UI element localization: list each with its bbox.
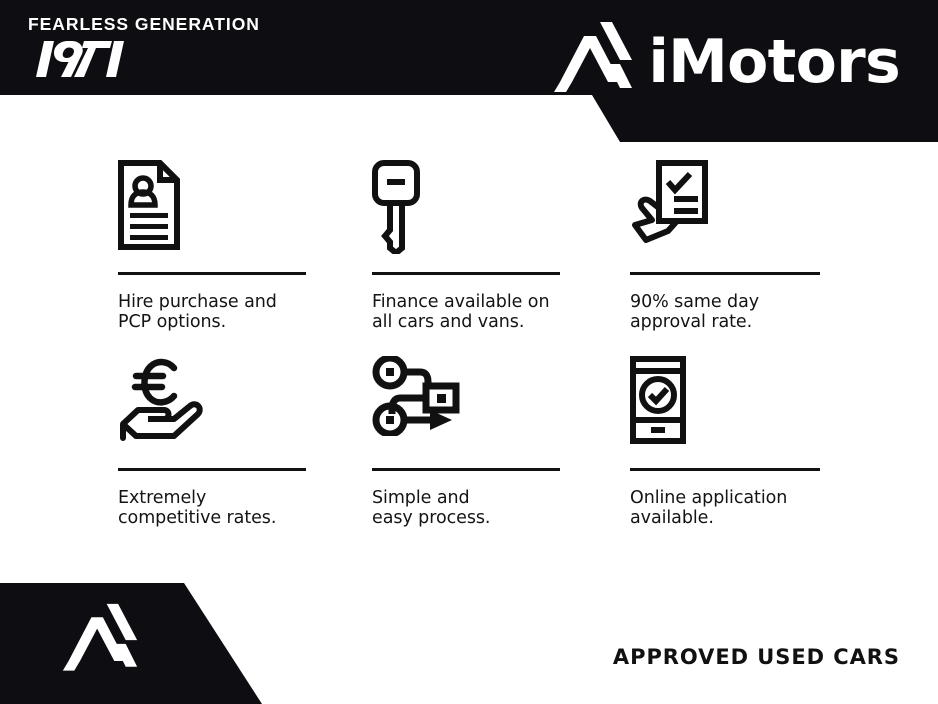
feature-caption: Extremely competitive rates.	[118, 489, 313, 529]
card-divider	[372, 468, 560, 471]
header-tagline: FEARLESS GENERATION	[28, 16, 260, 34]
feature-grid: Hire purchase and PCP options. Finance a…	[0, 160, 938, 552]
card-divider	[118, 468, 306, 471]
feature-row-1: Hire purchase and PCP options. Finance a…	[0, 160, 938, 356]
process-flow-icon	[372, 356, 567, 468]
feature-caption: Simple and easy process.	[372, 489, 567, 529]
header-brand-right: iMotors	[554, 20, 900, 104]
car-key-icon	[372, 160, 567, 272]
header-bar: FEARLESS GENERATION	[0, 0, 938, 142]
mobile-approved-icon	[630, 356, 835, 468]
footer-imotors-chevron-mark-icon	[62, 602, 138, 682]
card-divider	[372, 272, 560, 275]
feature-card-approval-rate: 90% same day approval rate.	[630, 160, 835, 333]
imotors-chevron-mark-icon	[554, 20, 632, 104]
feature-caption: 90% same day approval rate.	[630, 293, 835, 333]
feature-caption: Hire purchase and PCP options.	[118, 293, 313, 333]
card-divider	[118, 272, 306, 275]
feature-card-finance-available: Finance available on all cars and vans.	[372, 160, 567, 333]
feature-card-hire-purchase: Hire purchase and PCP options.	[118, 160, 313, 333]
year-1971-logo	[28, 41, 124, 77]
feature-caption: Online application available.	[630, 489, 835, 529]
brand-name: iMotors	[648, 32, 900, 92]
euro-in-hand-icon	[118, 356, 313, 468]
promo-banner: FEARLESS GENERATION	[0, 0, 938, 704]
feature-row-2: Extremely competitive rates.	[0, 356, 938, 552]
card-divider	[630, 272, 820, 275]
footer-tagline: APPROVED USED CARS	[613, 645, 900, 669]
header-brand-left: FEARLESS GENERATION	[28, 16, 260, 82]
feature-card-online-application: Online application available.	[630, 356, 835, 529]
feature-card-competitive-rates: Extremely competitive rates.	[118, 356, 313, 529]
feature-card-simple-process: Simple and easy process.	[372, 356, 567, 529]
card-divider	[630, 468, 820, 471]
feature-caption: Finance available on all cars and vans.	[372, 293, 567, 333]
hand-holding-checklist-icon	[630, 160, 835, 272]
document-person-icon	[118, 160, 313, 272]
